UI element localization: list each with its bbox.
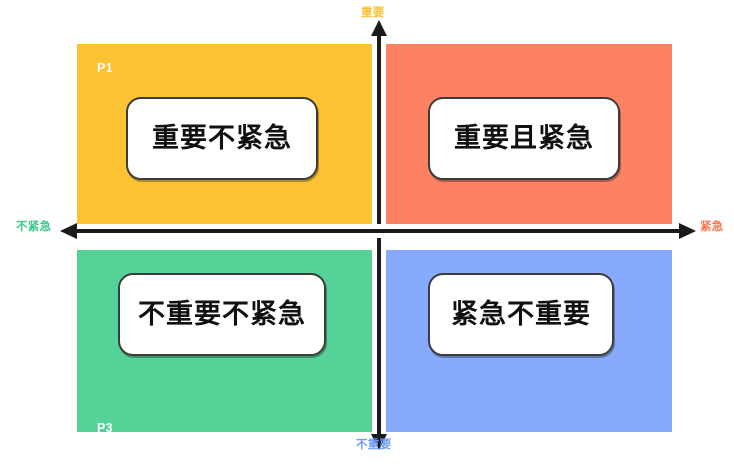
- axis-label-important: 重要: [361, 8, 385, 20]
- quadrant-card-p1[interactable]: 重要不紧急: [126, 97, 318, 180]
- axis-label-not-important: 不重要: [356, 440, 391, 452]
- axis-label-urgent: 紧急: [700, 222, 724, 234]
- priority-tag-p1: P1: [97, 62, 113, 75]
- quadrant-card-label-p2: 紧急不重要: [451, 301, 591, 328]
- priority-tag-p3: P3: [97, 422, 113, 435]
- priority-tag-p2: P2: [698, 422, 714, 435]
- quadrant-card-label-p1: 重要不紧急: [152, 125, 292, 152]
- priority-matrix-diagram: P1 P0 P3 P2 重要不紧急 重要且紧急 不重要不紧急 紧急不重要 重要 …: [0, 0, 734, 470]
- quadrant-card-p2[interactable]: 紧急不重要: [428, 273, 614, 356]
- quadrant-card-p0[interactable]: 重要且紧急: [428, 97, 620, 180]
- quadrant-card-label-p3: 不重要不紧急: [138, 301, 306, 328]
- quadrant-card-p3[interactable]: 不重要不紧急: [118, 273, 326, 356]
- axis-label-not-urgent: 不紧急: [16, 222, 51, 234]
- priority-tag-p0: P0: [698, 62, 714, 75]
- quadrant-card-label-p0: 重要且紧急: [454, 125, 594, 152]
